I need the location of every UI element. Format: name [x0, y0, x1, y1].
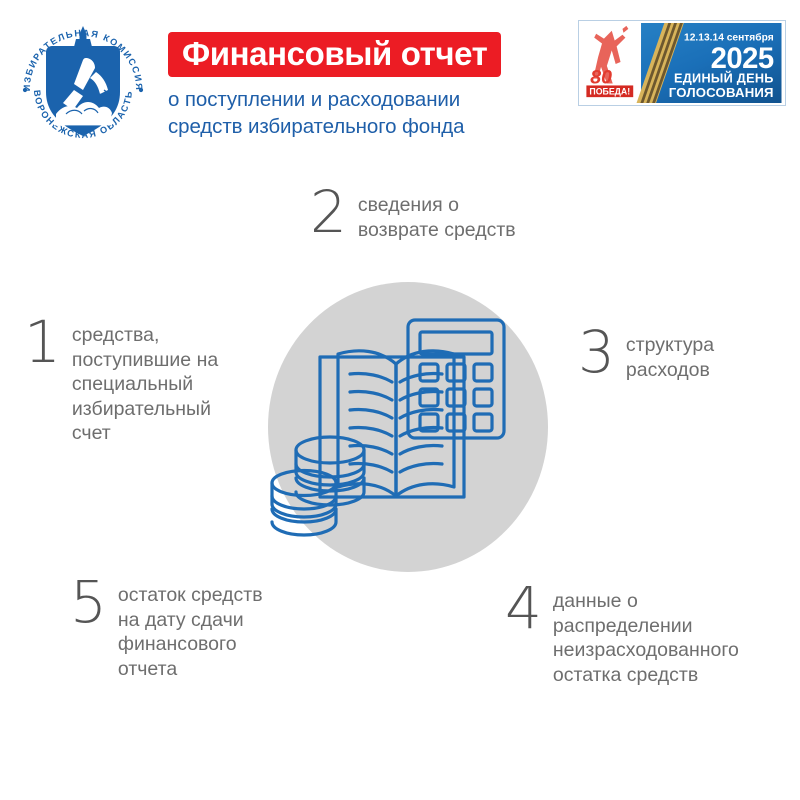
item-3-number: 3: [578, 328, 615, 377]
svg-text:ПОБЕДА!: ПОБЕДА!: [589, 87, 630, 97]
item-4-line-4: остатка средств: [553, 663, 739, 688]
list-item-5: 5 остаток средств на дату сдачи финансов…: [70, 578, 340, 681]
item-5-number: 5: [70, 578, 107, 627]
title-block: Финансовый отчет о поступлении и расходо…: [168, 32, 568, 140]
header: ИЗБИРАТЕЛЬНАЯ КОМИССИЯ ВОРОНЕЖСКАЯ ОБЛАС…: [0, 0, 800, 160]
item-3-text: структура расходов: [615, 328, 714, 382]
item-1-line-4: избирательный: [72, 397, 218, 422]
item-5-line-3: финансового: [118, 632, 263, 657]
list-item-3: 3 структура расходов: [578, 328, 788, 382]
item-2-line-2: возврате средств: [358, 218, 516, 243]
item-4-line-1: данные о: [553, 589, 739, 614]
subtitle-line-2: средств избирательного фонда: [168, 113, 568, 140]
item-3-line-1: структура: [626, 333, 714, 358]
badge-line-1: ЕДИНЫЙ ДЕНЬ: [674, 71, 774, 86]
page-title: Финансовый отчет: [182, 37, 487, 70]
center-illustration: [268, 282, 548, 572]
commission-emblem: ИЗБИРАТЕЛЬНАЯ КОМИССИЯ ВОРОНЕЖСКАЯ ОБЛАС…: [8, 10, 158, 160]
badge-date: 12.13.14 сентября: [684, 32, 774, 44]
list-item-2: 2 сведения о возврате средств: [310, 188, 570, 242]
item-1-line-1: средства,: [72, 323, 218, 348]
voting-day-badge: 80 ПОБЕДА! 12.13.14 сентября 2025 ЕДИНЫЙ…: [578, 20, 786, 106]
item-2-number: 2: [310, 188, 347, 237]
list-item-4: 4 данные о распределении неизрасходованн…: [505, 584, 795, 687]
item-1-line-3: специальный: [72, 372, 218, 397]
subtitle-line-1: о поступлении и расходовании: [168, 86, 568, 113]
item-4-line-3: неизрасходованного: [553, 638, 739, 663]
item-2-text: сведения о возврате средств: [347, 188, 516, 242]
item-5-line-1: остаток средств: [118, 583, 263, 608]
item-5-text: остаток средств на дату сдачи финансовог…: [107, 578, 263, 681]
item-4-text: данные о распределении неизрасходованног…: [542, 584, 739, 687]
item-1-text: средства, поступившие на специальный изб…: [61, 318, 218, 446]
badge-line-2: ГОЛОСОВАНИЯ: [669, 85, 774, 100]
item-5-line-4: отчета: [118, 657, 263, 682]
infographic-stage: 1 средства, поступившие на специальный и…: [0, 160, 800, 800]
badge-year: 2025: [711, 43, 774, 75]
item-1-line-5: счет: [72, 421, 218, 446]
item-4-number: 4: [505, 584, 542, 633]
svg-text:80: 80: [590, 66, 612, 88]
item-2-line-1: сведения о: [358, 193, 516, 218]
item-3-line-2: расходов: [626, 358, 714, 383]
item-4-line-2: распределении: [553, 614, 739, 639]
page-subtitle: о поступлении и расходовании средств изб…: [168, 86, 568, 140]
list-item-1: 1 средства, поступившие на специальный и…: [24, 318, 274, 446]
title-banner: Финансовый отчет: [168, 32, 501, 77]
calculator-icon: [408, 320, 504, 438]
item-1-number: 1: [24, 318, 61, 367]
item-1-line-2: поступившие на: [72, 348, 218, 373]
item-5-line-2: на дату сдачи: [118, 608, 263, 633]
